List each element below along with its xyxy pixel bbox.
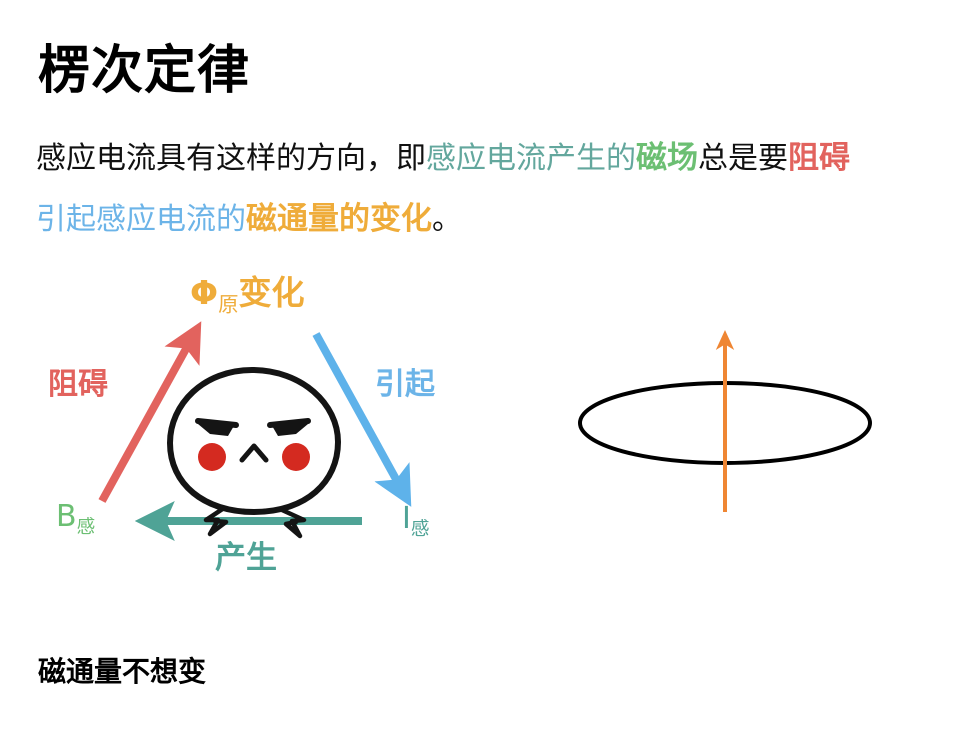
slide-canvas: 楞次定律 感应电流具有这样的方向，即感应电流产生的磁场总是要阻碍 引起感应电流的… (0, 0, 980, 731)
coil-flux-figure (560, 320, 920, 540)
b-subscript: 感 (77, 517, 96, 538)
lenz-law-statement: 感应电流具有这样的方向，即感应电流产生的磁场总是要阻碍 引起感应电流的磁通量的变… (36, 128, 956, 249)
phi-suffix: 变化 (239, 273, 305, 312)
statement-seg-3: 磁场 (636, 140, 698, 176)
statement-seg-5: 阻碍 (788, 140, 850, 176)
statement-line-2: 引起感应电流的磁通量的变化。 (36, 189, 956, 250)
edge-label-zuai: 阻碍 (48, 370, 108, 400)
lenz-cycle-diagram: Φ原变化 阻碍 引起 B感 I感 产生 (20, 258, 520, 608)
node-label-b: B感 (56, 502, 95, 538)
statement-seg-4: 总是要 (698, 141, 788, 176)
edge-label-yinqi: 引起 (375, 370, 435, 400)
footnote-text: 磁通量不想变 (38, 650, 206, 690)
node-label-i: I感 (402, 504, 429, 540)
statement-seg-7: 磁通量的变化 (246, 201, 432, 237)
statement-seg-8: 。 (432, 202, 462, 237)
b-symbol: B (56, 499, 77, 534)
i-symbol: I (402, 501, 411, 536)
statement-seg-6: 引起感应电流的 (36, 202, 246, 237)
edge-label-chansheng: 产生 (215, 543, 277, 574)
angry-face-icon (170, 370, 338, 536)
statement-seg-2: 感应电流产生的 (426, 141, 636, 176)
node-label-phi: Φ原变化 (190, 276, 305, 315)
statement-line-1: 感应电流具有这样的方向，即感应电流产生的磁场总是要阻碍 (36, 128, 956, 189)
coil-loop-with-flux-arrow (560, 320, 920, 540)
i-subscript: 感 (411, 519, 430, 540)
phi-symbol: Φ (190, 273, 218, 312)
page-title: 楞次定律 (38, 44, 250, 99)
phi-subscript: 原 (218, 293, 238, 317)
statement-seg-1: 感应电流具有这样的方向，即 (36, 141, 426, 176)
